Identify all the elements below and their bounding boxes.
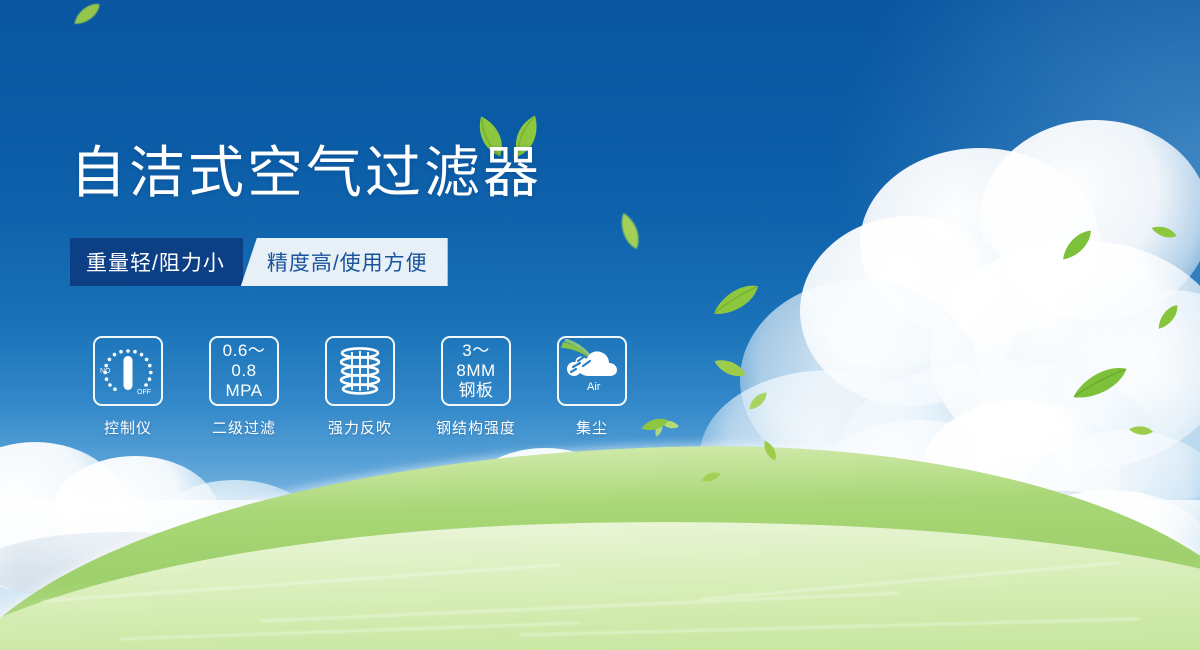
filter-stack-icon <box>334 344 386 398</box>
grass-field <box>0 430 1200 650</box>
feature-row: NO OFF 控制仪 0.6～0.8 MPA 二级过滤 <box>70 336 650 438</box>
feature-strong-backblow[interactable]: 强力反吹 <box>302 336 418 438</box>
feature-icon-box: Air <box>557 336 627 406</box>
feature-icon-box: 0.6～0.8 MPA <box>209 336 279 406</box>
svg-text:NO: NO <box>100 368 111 375</box>
feature-control-dial[interactable]: NO OFF 控制仪 <box>70 336 186 438</box>
feature-caption: 强力反吹 <box>328 417 392 438</box>
steel-thickness: 3～8MM <box>443 341 509 381</box>
feature-secondary-filtration[interactable]: 0.6～0.8 MPA 二级过滤 <box>186 336 302 438</box>
feature-steel-strength[interactable]: 3～8MM 钢板 钢结构强度 <box>418 336 534 438</box>
feature-icon-box <box>325 336 395 406</box>
feature-caption: 钢结构强度 <box>436 417 516 438</box>
pressure-range: 0.6～0.8 <box>211 341 277 381</box>
badge-precision-convenience: 精度高/使用方便 <box>241 238 448 286</box>
feature-caption: 二级过滤 <box>212 417 276 438</box>
air-cloud-icon: Air <box>561 338 623 396</box>
pressure-unit: MPA <box>211 381 277 401</box>
svg-text:OFF: OFF <box>137 389 151 396</box>
badge-weight-resistance: 重量轻/阻力小 <box>70 238 243 286</box>
badge-row: 重量轻/阻力小 精度高/使用方便 <box>70 238 448 286</box>
steel-plate-text-icon: 3～8MM 钢板 <box>443 341 509 401</box>
page-title: 自洁式空气过滤器 <box>70 142 542 204</box>
control-dial-icon: NO OFF <box>99 343 157 399</box>
pressure-text-icon: 0.6～0.8 MPA <box>211 341 277 401</box>
feature-caption: 集尘 <box>576 417 608 438</box>
feature-caption: 控制仪 <box>104 417 152 438</box>
svg-text:Air: Air <box>587 381 601 393</box>
feature-icon-box: 3～8MM 钢板 <box>441 336 511 406</box>
feature-dust-collection[interactable]: Air 集尘 <box>534 336 650 438</box>
banner-stage: 自洁式空气过滤器 重量轻/阻力小 精度高/使用方便 N <box>0 0 1200 650</box>
steel-material: 钢板 <box>443 381 509 401</box>
feature-icon-box: NO OFF <box>93 336 163 406</box>
